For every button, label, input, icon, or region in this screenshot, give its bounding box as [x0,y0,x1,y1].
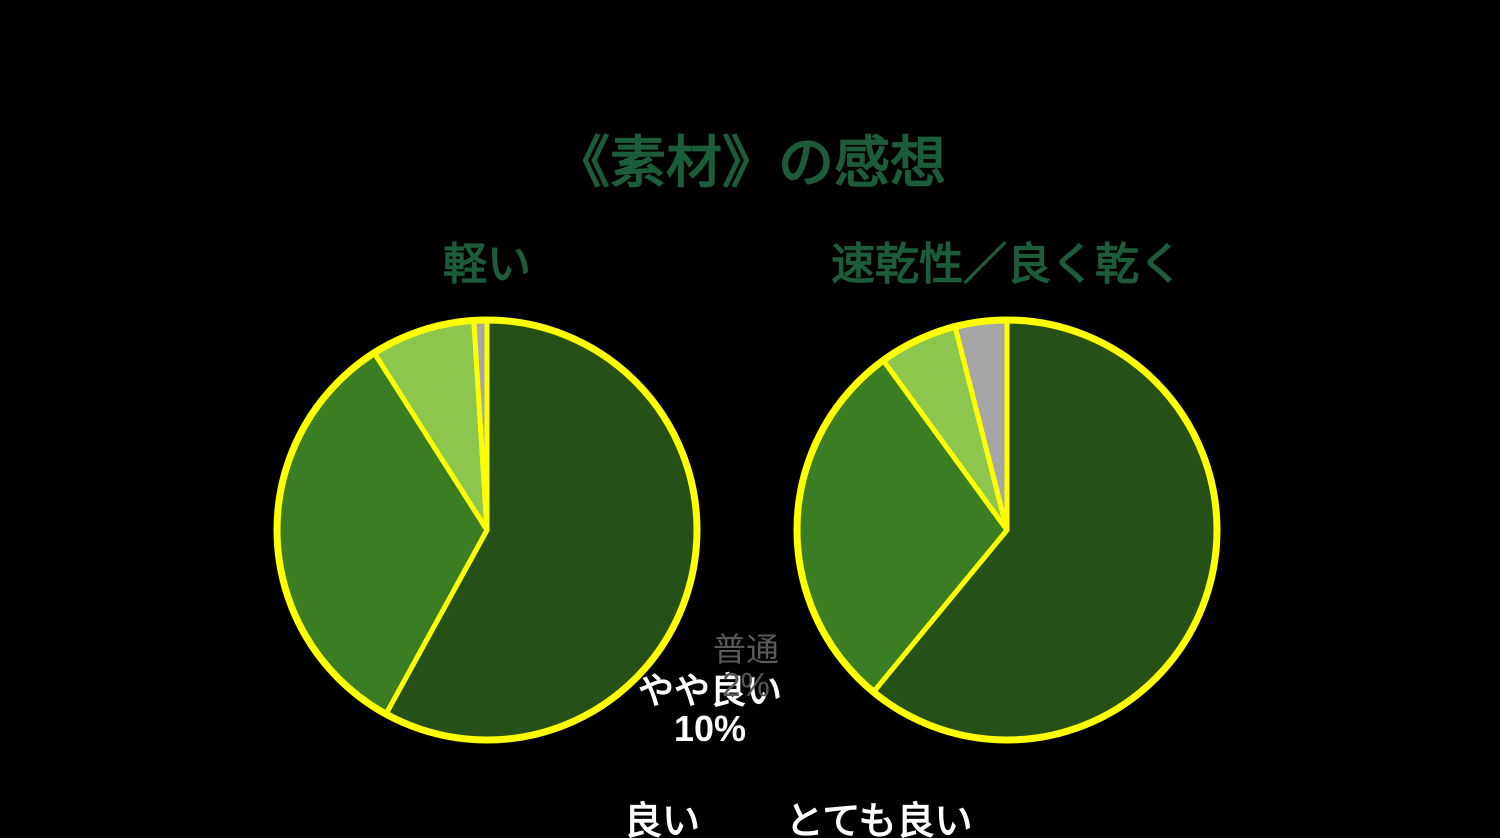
label-normal-left-name: 普通 [691,633,801,668]
label-verygood-left: とても良い 58% [769,802,989,838]
pie-svg-left [272,315,702,745]
label-normal-left: 普通 2% [691,633,801,703]
pie-chart-left: とても良い 58% 良い 33% やや良い 10% 普通 2% [272,315,702,745]
label-verygood-left-name: とても良い [769,802,989,838]
chart-canvas: 《素材》の感想 軽い とても良い 58% 良い 33% やや良い 10% [0,0,1500,838]
panel-title-right: 速乾性／良く乾く [807,242,1207,288]
pie-svg-right [792,315,1222,745]
panel-title-left: 軽い [287,242,687,288]
label-good-left: 良い 33% [562,802,762,838]
pie-chart-right: とても良い 61% 良い 29% やや良い 6% 普通 4% [792,315,1222,745]
page-title: 《素材》の感想 [0,135,1500,191]
label-normal-left-pct: 2% [691,668,801,703]
label-good-left-name: 良い [562,802,762,838]
